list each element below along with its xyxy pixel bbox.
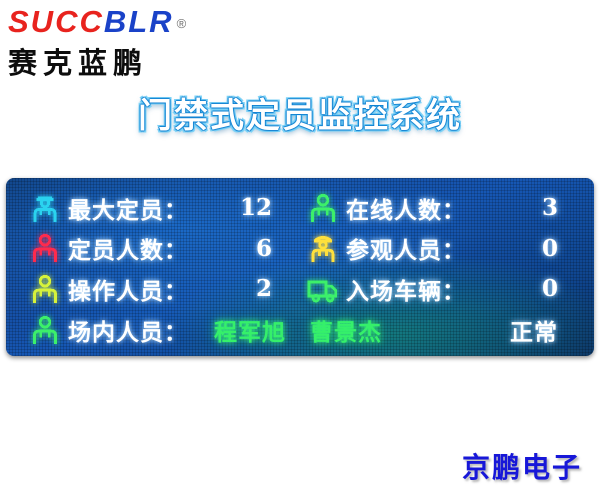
- led-field-max-capacity: 最大定员： 12: [20, 188, 298, 227]
- brand-wordmark-succ: SUCC: [8, 4, 104, 39]
- registered-trademark-icon: ®: [177, 8, 187, 40]
- brand-wordmark: SUCCBLR®: [8, 6, 238, 38]
- led-field-vehicle-count: 入场车辆： 0: [298, 269, 580, 308]
- led-value: 0: [542, 235, 580, 262]
- status-badge: 正常: [510, 313, 580, 347]
- page-title: 门禁式定员监控系统: [0, 88, 600, 137]
- truck-icon: [306, 272, 340, 306]
- person-icon: [28, 231, 62, 265]
- led-label: 参观人员：: [346, 231, 466, 265]
- onsite-names-block: 程军旭 曹景杰 正常: [188, 313, 580, 347]
- person-icon: [306, 191, 340, 225]
- led-display-panel: 最大定员： 12 在线人数： 3: [6, 178, 594, 356]
- brand-chinese-name: 赛克蓝鹏: [8, 40, 238, 82]
- led-row: 操作人员： 2 入场车辆： 0: [20, 269, 580, 308]
- led-label: 场内人员：: [68, 313, 188, 347]
- person-icon: [28, 272, 62, 306]
- led-field-assigned-count: 定员人数： 6: [20, 229, 298, 268]
- led-row: 最大定员： 12 在线人数： 3: [20, 188, 580, 227]
- onsite-names: 程军旭 曹景杰: [214, 313, 382, 347]
- person-helmet-icon: [306, 231, 340, 265]
- led-value: 2: [256, 275, 298, 302]
- led-label: 在线人数：: [346, 191, 466, 225]
- led-field-visitor-count: 参观人员： 0: [298, 229, 580, 268]
- person-icon: [28, 313, 62, 347]
- led-rows: 最大定员： 12 在线人数： 3: [6, 178, 594, 356]
- led-field-online-count: 在线人数： 3: [298, 188, 580, 227]
- company-logo: SUCCBLR® 赛克蓝鹏: [8, 6, 238, 76]
- led-value: 12: [240, 194, 298, 221]
- led-label: 最大定员：: [68, 191, 188, 225]
- led-field-operator-count: 操作人员： 2: [20, 269, 298, 308]
- led-label: 定员人数：: [68, 231, 188, 265]
- led-value: 6: [256, 235, 298, 262]
- led-label: 入场车辆：: [346, 272, 466, 306]
- led-row-onsite-personnel: 场内人员： 程军旭 曹景杰 正常: [20, 310, 580, 350]
- person-cap-icon: [28, 191, 62, 225]
- led-row: 定员人数： 6 参观人员： 0: [20, 229, 580, 268]
- led-value: 3: [542, 194, 580, 221]
- brand-wordmark-blr: BLR: [104, 4, 174, 39]
- led-value: 0: [542, 275, 580, 302]
- led-label: 操作人员：: [68, 272, 188, 306]
- footer-company-mark: 京鹏电子: [462, 446, 582, 486]
